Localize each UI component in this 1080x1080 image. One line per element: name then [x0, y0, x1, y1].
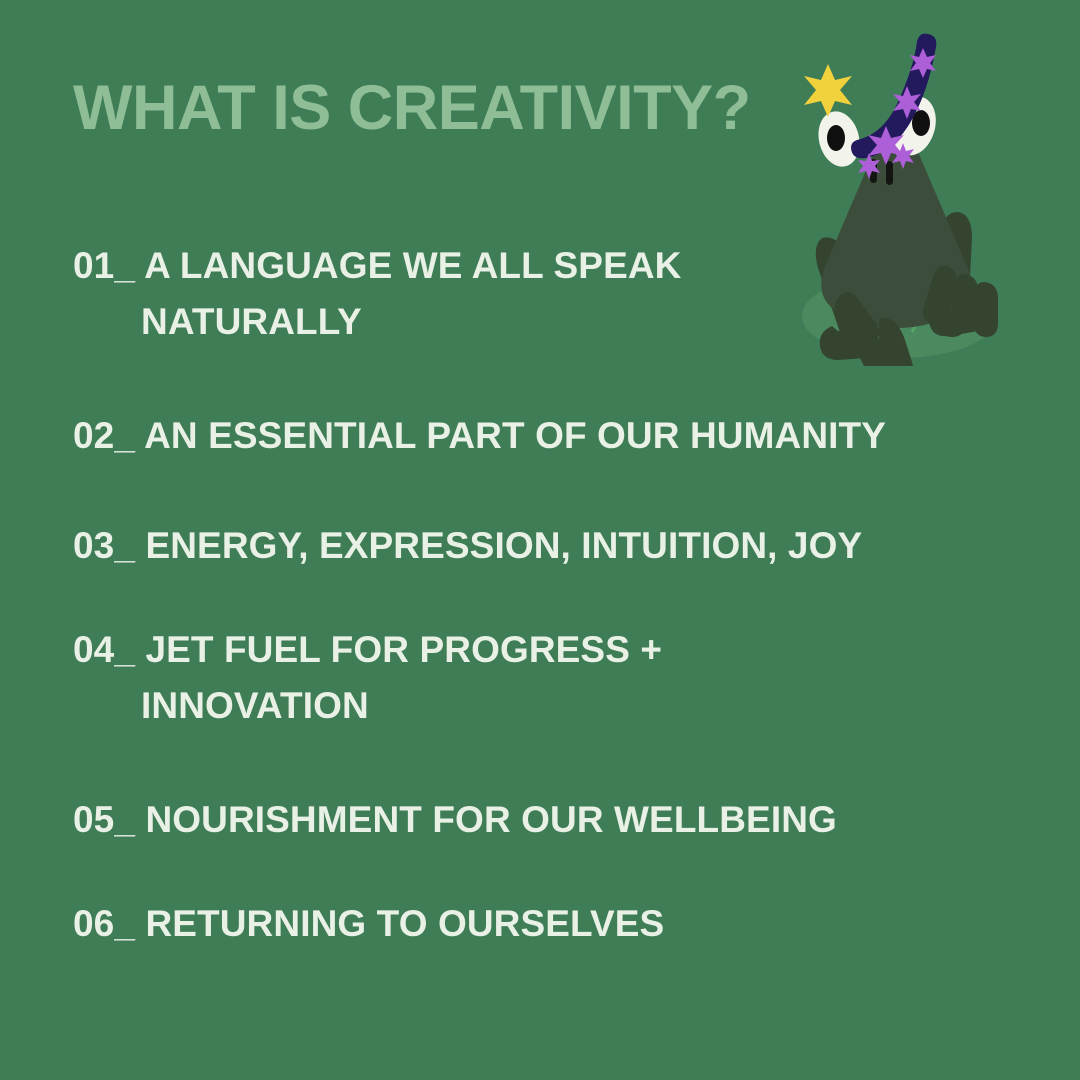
list-item: 02_ AN ESSENTIAL PART OF OUR HUMANITY — [73, 408, 1003, 464]
spacer — [73, 734, 1003, 792]
list-item-line: 06_ RETURNING TO OURSELVES — [73, 896, 1003, 952]
list-item-number: 06_ — [73, 903, 135, 944]
hat-tip-star — [804, 64, 852, 117]
list-item-number: 03_ — [73, 525, 135, 566]
list-item-label: ENERGY, EXPRESSION, INTUITION, JOY — [145, 525, 862, 566]
list-item-number: 04_ — [73, 629, 135, 670]
list-item: 05_ NOURISHMENT FOR OUR WELLBEING — [73, 792, 1003, 848]
list-item-line: 03_ ENERGY, EXPRESSION, INTUITION, JOY — [73, 518, 1003, 574]
slide-canvas: WHAT IS CREATIVITY? 01_ A LANGUAGE WE AL… — [0, 0, 1080, 1080]
frog-right-foot — [923, 266, 998, 337]
list-item-label: A LANGUAGE WE ALL SPEAK — [144, 245, 681, 286]
list-item-line-continued: INNOVATION — [73, 678, 1003, 734]
frog-left-eye — [813, 107, 865, 171]
list-item: 04_ JET FUEL FOR PROGRESS + INNOVATION — [73, 622, 1003, 734]
page-title: WHAT IS CREATIVITY? — [73, 74, 751, 143]
list-item-number: 02_ — [73, 415, 135, 456]
spacer — [73, 464, 1003, 518]
list-item-label-continued: INNOVATION — [141, 685, 369, 726]
list-item: 06_ RETURNING TO OURSELVES — [73, 896, 1003, 952]
list-item-number: 05_ — [73, 799, 135, 840]
frog-wizard-illustration — [780, 26, 1015, 366]
list-item-line: 02_ AN ESSENTIAL PART OF OUR HUMANITY — [73, 408, 1003, 464]
spacer — [73, 848, 1003, 896]
list-item-label: NOURISHMENT FOR OUR WELLBEING — [145, 799, 836, 840]
list-item: 03_ ENERGY, EXPRESSION, INTUITION, JOY — [73, 518, 1003, 574]
list-item-label-continued: NATURALLY — [141, 301, 362, 342]
list-item-number: 01_ — [73, 245, 135, 286]
spacer — [73, 574, 1003, 622]
list-item-line: 04_ JET FUEL FOR PROGRESS + — [73, 622, 1003, 678]
list-item-label: JET FUEL FOR PROGRESS + — [145, 629, 662, 670]
list-item-line: 05_ NOURISHMENT FOR OUR WELLBEING — [73, 792, 1003, 848]
list-item-label: AN ESSENTIAL PART OF OUR HUMANITY — [144, 415, 886, 456]
list-item-label: RETURNING TO OURSELVES — [145, 903, 664, 944]
